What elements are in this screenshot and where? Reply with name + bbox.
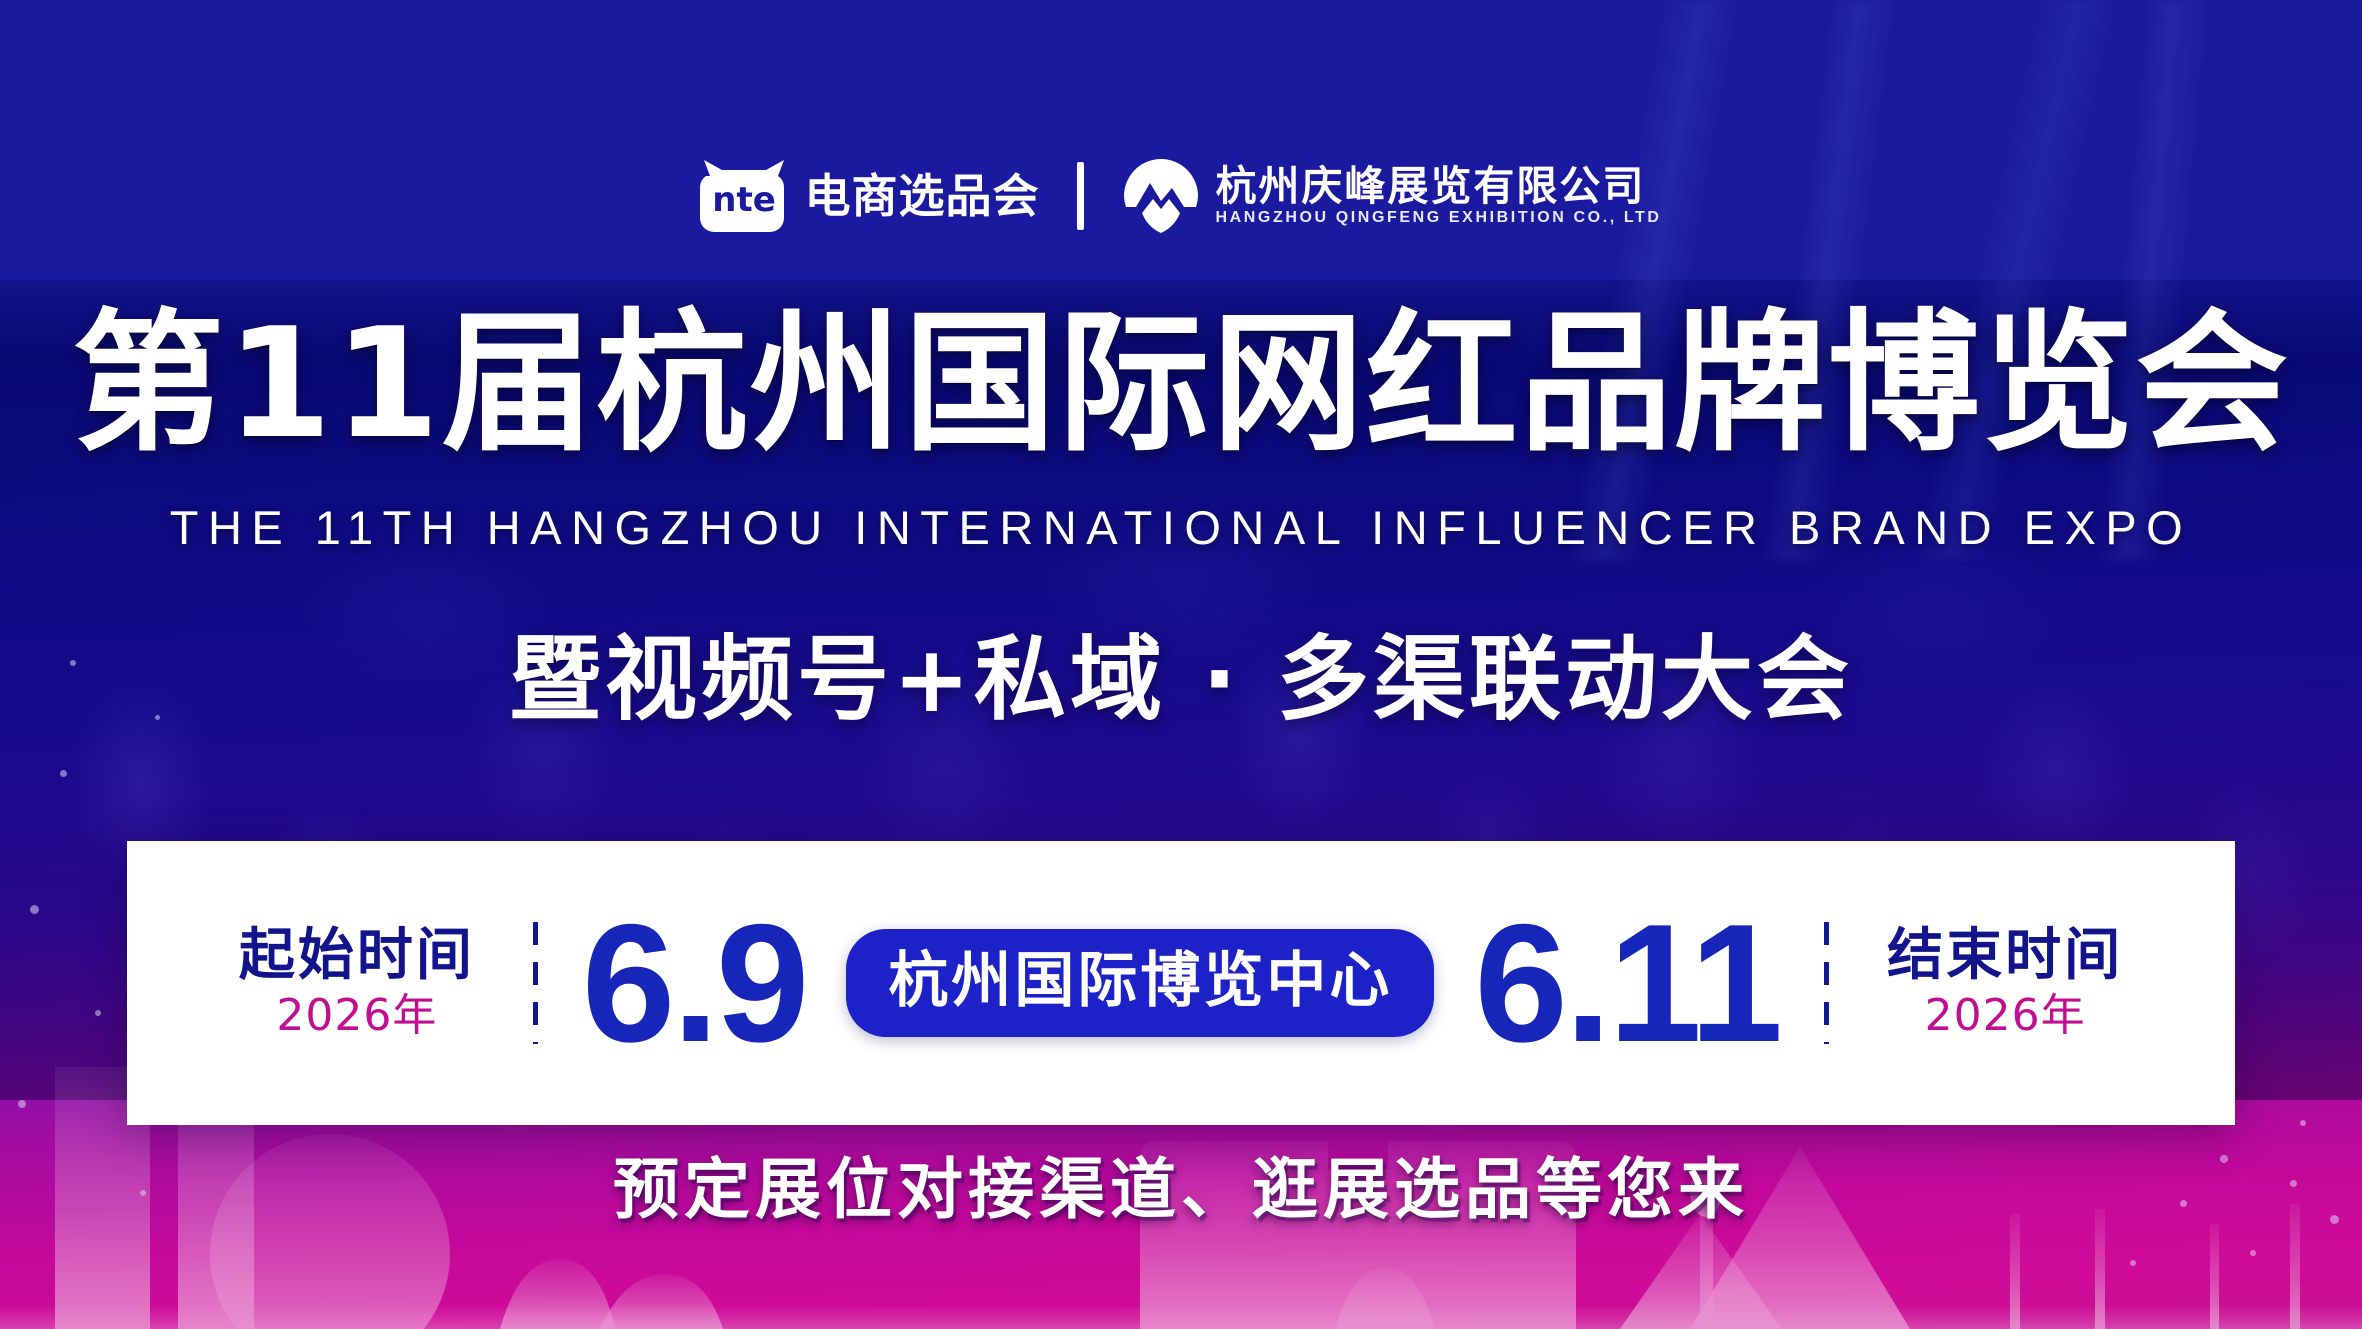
bottom-tagline: 预定展位对接渠道、逛展选品等您来: [0, 1136, 2362, 1232]
dashed-separator-right: [1824, 922, 1829, 1044]
end-time-year: 2026年: [1925, 994, 2086, 1038]
end-date-value: 6.11: [1456, 906, 1798, 1061]
date-card-inner: 起始时间 2026年 6.9 杭州国际博览中心 6.11 结束时间 2026年: [127, 906, 2235, 1061]
main-title-cn: 第11届杭州国际网红品牌博览会: [0, 305, 2362, 463]
event-promo-banner: nte 电商选品会 杭州庆峰展览有限公司 HANGZHOU QINGFENG E…: [0, 0, 2362, 1329]
qingfeng-cn-name: 杭州庆峰展览有限公司: [1215, 166, 1661, 207]
nte-cat-logo-icon: nte: [700, 160, 788, 232]
vertical-divider-icon: [1077, 162, 1084, 230]
start-time-label: 起始时间: [239, 928, 475, 984]
start-time-year: 2026年: [276, 994, 437, 1038]
venue-badge: 杭州国际博览中心: [846, 929, 1434, 1037]
qingfeng-text-block: 杭州庆峰展览有限公司 HANGZHOU QINGFENG EXHIBITION …: [1215, 166, 1661, 226]
qingfeng-logo-group: 杭州庆峰展览有限公司 HANGZHOU QINGFENG EXHIBITION …: [1122, 157, 1661, 235]
dashed-separator-left: [533, 922, 538, 1044]
svg-text:nte: nte: [713, 180, 777, 220]
nte-logo-cn-label: 电商选品会: [804, 173, 1039, 219]
logo-header-row: nte 电商选品会 杭州庆峰展览有限公司 HANGZHOU QINGFENG E…: [0, 148, 2362, 244]
event-date-card: 起始时间 2026年 6.9 杭州国际博览中心 6.11 结束时间 2026年: [127, 841, 2235, 1125]
main-title-en: THE 11TH HANGZHOU INTERNATIONAL INFLUENC…: [0, 500, 2362, 555]
end-time-block: 结束时间 2026年: [1855, 928, 2155, 1038]
light-streaks-decoration: [1462, 0, 2362, 560]
start-time-block: 起始时间 2026年: [207, 928, 507, 1038]
qingfeng-en-name: HANGZHOU QINGFENG EXHIBITION CO., LTD: [1215, 210, 1661, 226]
nte-logo-group: nte 电商选品会: [700, 160, 1039, 232]
mountain-circle-icon: [1122, 157, 1200, 235]
start-date-value: 6.9: [564, 906, 825, 1061]
end-time-label: 结束时间: [1887, 928, 2123, 984]
subtitle-cn: 暨视频号+私域 · 多渠联动大会: [0, 605, 2362, 738]
